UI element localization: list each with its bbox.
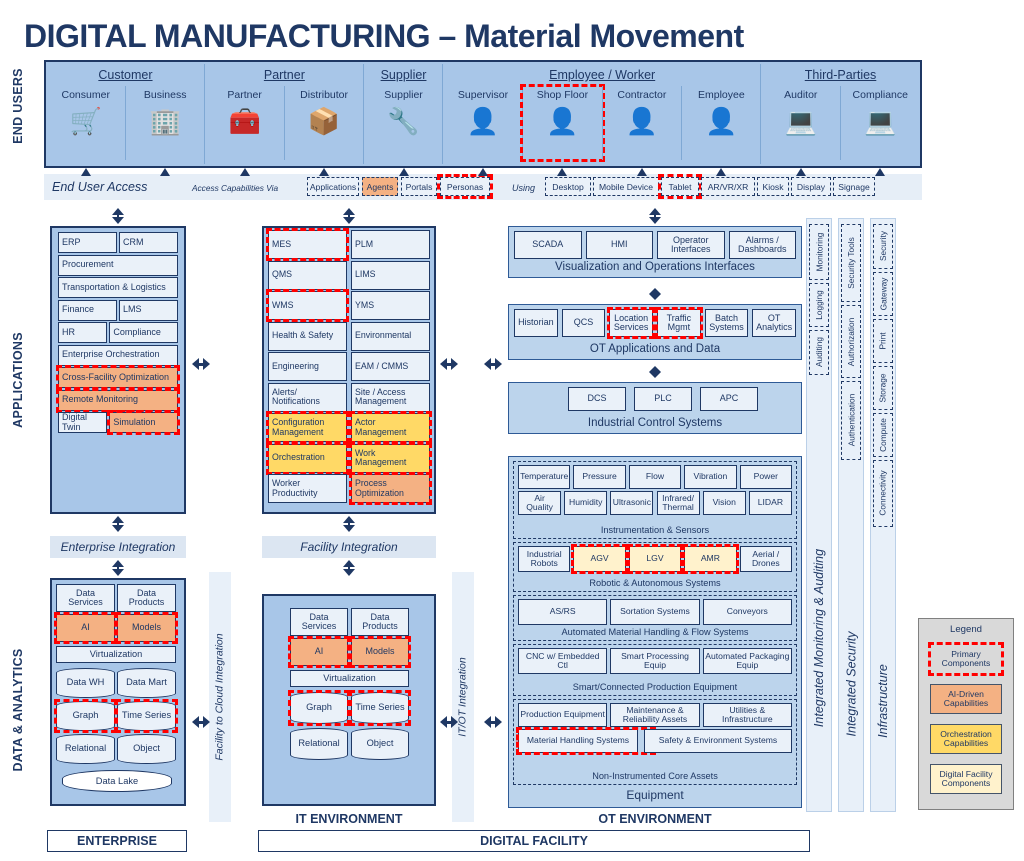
- double-arrow: [649, 366, 661, 380]
- it-app-site-access-management[interactable]: Site / Access Management: [351, 383, 430, 412]
- double-arrow: [649, 288, 661, 302]
- sidebar-tag-gateway[interactable]: Gateway: [873, 272, 893, 316]
- row-label-applications: APPLICATIONS: [8, 320, 28, 440]
- legend-item-dfc: Digital Facility Components: [930, 764, 1002, 794]
- end-user-group-title: Supplier: [364, 68, 443, 82]
- connector-arrow: [319, 168, 329, 176]
- member-divider: [125, 86, 126, 160]
- access-device-tags: DesktopMobile DeviceTabletAR/VR/XRKioskD…: [545, 177, 925, 197]
- sidebar-tag-label: Logging: [814, 290, 824, 320]
- it-app-orchestration[interactable]: Orchestration: [268, 444, 347, 473]
- member-divider: [840, 86, 841, 160]
- it-app-configuration-management[interactable]: Configuration Management: [268, 413, 347, 442]
- end-user-partner[interactable]: Partner: [205, 89, 284, 101]
- person-laptop-icon: 💻: [761, 108, 840, 134]
- connector-arrow: [796, 168, 806, 176]
- ent-data-store-graph[interactable]: Graph: [56, 701, 115, 731]
- access-device-ar-vr-xr[interactable]: AR/VR/XR: [701, 177, 755, 196]
- equipment-item-infrared-thermal[interactable]: Infrared/ Thermal: [657, 491, 700, 515]
- connector-arrow: [875, 168, 885, 176]
- access-capability-tags: ApplicationsAgentsPortalsPersonas: [307, 177, 507, 197]
- enterprise-integration-band: Enterprise Integration: [50, 536, 186, 558]
- end-user-auditor[interactable]: Auditor: [761, 89, 840, 101]
- sidebar-title-wrap: Integrated Security: [775, 676, 928, 692]
- connector-arrow: [343, 516, 355, 532]
- connector-arrow: [160, 168, 170, 176]
- it-data-store-object[interactable]: Object: [351, 728, 409, 760]
- enterprise-app-erp[interactable]: ERP: [58, 232, 117, 253]
- access-capabilities-via-label: Access Capabilities Via: [192, 183, 278, 193]
- it-app-health-safety[interactable]: Health & Safety: [268, 322, 347, 351]
- access-device-display[interactable]: Display: [791, 177, 831, 196]
- sidebar-tag-security[interactable]: Security: [873, 224, 893, 269]
- end-user-group-title: Customer: [46, 68, 205, 82]
- equipment-item-agv[interactable]: AGV: [573, 546, 625, 572]
- connector-arrow: [399, 168, 409, 176]
- horizontal-connector: [484, 716, 502, 728]
- sidebar-tag-label: Authentication: [846, 394, 856, 447]
- sidebar-tag-auditing[interactable]: Auditing: [809, 330, 829, 375]
- ot-group-label: OT Applications and Data: [508, 340, 802, 358]
- sidebar-title: Infrastructure: [876, 664, 890, 738]
- access-capability-personas[interactable]: Personas: [440, 177, 490, 196]
- it-environment-label: IT ENVIRONMENT: [262, 812, 436, 826]
- equipment-item-conveyors[interactable]: Conveyors: [703, 599, 792, 625]
- end-user-group-title: Third-Parties: [761, 68, 920, 82]
- ot-group-label: Visualization and Operations Interfaces: [508, 258, 802, 276]
- person-icon: 👤: [443, 108, 522, 134]
- horizontal-connector: [192, 358, 210, 370]
- sidebar-tag-print[interactable]: Print: [873, 319, 893, 363]
- connector-arrow: [240, 168, 250, 176]
- horizontal-connector: [484, 358, 502, 370]
- connector-arrow: [343, 208, 355, 224]
- access-capability-portals[interactable]: Portals: [401, 177, 437, 196]
- enterprise-app-remote-monitoring[interactable]: Remote Monitoring: [58, 390, 178, 411]
- end-user-supplier[interactable]: Supplier: [364, 89, 443, 101]
- connector-arrow: [649, 208, 661, 224]
- sidebar-tag-connectivity[interactable]: Connectivity: [873, 460, 893, 527]
- equipment-item-air-quality[interactable]: Air Quality: [518, 491, 561, 515]
- it-ot-integration-band: IT/OT Integration: [452, 572, 474, 822]
- it-app-work-management[interactable]: Work Management: [351, 444, 430, 473]
- access-device-signage[interactable]: Signage: [833, 177, 875, 196]
- it-app-process-optimization[interactable]: Process Optimization: [351, 474, 430, 503]
- ent-data-models[interactable]: Models: [117, 614, 176, 642]
- equipment-item-sortation-systems[interactable]: Sortation Systems: [610, 599, 699, 625]
- it-app-actor-management[interactable]: Actor Management: [351, 413, 430, 442]
- sidebar-tag-label: Compute: [878, 418, 888, 452]
- ent-data-store-data-mart[interactable]: Data Mart: [117, 668, 176, 698]
- equipment-item-vibration[interactable]: Vibration: [684, 465, 736, 489]
- sidebar-tag-monitoring[interactable]: Monitoring: [809, 224, 829, 280]
- person-icon: 👤: [523, 108, 602, 134]
- end-user-access-title: End User Access: [52, 180, 147, 194]
- connector-arrow: [112, 208, 124, 224]
- it-data-store-relational[interactable]: Relational: [290, 728, 348, 760]
- sidebar-tag-compute[interactable]: Compute: [873, 413, 893, 457]
- it-applications-grid: MESPLMQMSLIMSWMSYMSHealth & SafetyEnviro…: [268, 230, 430, 510]
- ot-item-scada[interactable]: SCADA: [514, 231, 582, 259]
- equipment-item-smart-processing-equip[interactable]: Smart Processing Equip: [610, 648, 699, 674]
- member-divider: [602, 86, 603, 160]
- sidebar-title-wrap: Integrated Monitoring & Auditing: [697, 630, 941, 646]
- equipment-item-cnc-w-embedded-ctl[interactable]: CNC w/ Embedded Ctl: [518, 648, 607, 674]
- it-app-engineering[interactable]: Engineering: [268, 352, 347, 381]
- sidebar-tag-label: Monitoring: [814, 233, 824, 272]
- enterprise-app-crm[interactable]: CRM: [119, 232, 178, 253]
- ot-item-traffic-mgmt[interactable]: Traffic Mgmt: [657, 309, 701, 337]
- end-user-consumer[interactable]: Consumer: [46, 89, 125, 101]
- connector-arrow: [112, 560, 124, 576]
- enterprise-app-hr[interactable]: HR: [58, 322, 107, 343]
- it-ot-integration-label: IT/OT Integration: [457, 657, 469, 736]
- horizontal-connector: [440, 716, 458, 728]
- connector-arrow: [716, 168, 726, 176]
- ent-data-ai[interactable]: AI: [56, 614, 115, 642]
- enterprise-app-finance[interactable]: Finance: [58, 300, 117, 321]
- legend-item-primary-components: Primary Components: [930, 644, 1002, 674]
- end-user-distributor[interactable]: Distributor: [284, 89, 363, 101]
- equipment-item-automated-packaging-equip[interactable]: Automated Packaging Equip: [703, 648, 792, 674]
- enterprise-applications-list: ERPCRMProcurementTransportation & Logist…: [58, 232, 178, 508]
- access-capability-applications[interactable]: Applications: [307, 177, 359, 196]
- sidebar-tag-label: Auditing: [814, 337, 824, 367]
- sidebar-tag-label: Authorization: [846, 318, 856, 366]
- ent-data-store-relational[interactable]: Relational: [56, 734, 115, 764]
- supplier-person-icon: 🔧: [364, 108, 443, 134]
- connector-arrow: [112, 516, 124, 532]
- ot-item-hmi[interactable]: HMI: [586, 231, 654, 259]
- connector-arrow: [81, 168, 91, 176]
- ot-group-label: Industrial Control Systems: [508, 414, 802, 432]
- it-app-mes[interactable]: MES: [268, 230, 347, 259]
- member-divider: [522, 86, 523, 160]
- end-user-employee[interactable]: Employee: [682, 89, 761, 101]
- shopping-cart-person-icon: 🛒: [46, 108, 125, 134]
- it-data-store-graph[interactable]: Graph: [290, 692, 348, 724]
- facility-integration-band: Facility Integration: [262, 536, 436, 558]
- ot-item-apc[interactable]: APC: [700, 387, 758, 411]
- ot-item-batch-systems[interactable]: Batch Systems: [705, 309, 749, 337]
- equipment-item-lgv[interactable]: LGV: [629, 546, 681, 572]
- end-users-content: CustomerConsumer🛒Business🏢PartnerPartner…: [46, 62, 920, 166]
- access-device-tablet[interactable]: Tablet: [661, 177, 699, 196]
- it-data-virtualization[interactable]: Virtualization: [290, 670, 409, 687]
- ot-environment-label: OT ENVIRONMENT: [500, 812, 810, 826]
- ent-data-store-object[interactable]: Object: [117, 734, 176, 764]
- end-user-group-title: Partner: [205, 68, 364, 82]
- equipment-item-power[interactable]: Power: [740, 465, 792, 489]
- it-app-yms[interactable]: YMS: [351, 291, 430, 320]
- person-laptop-icon: 💻: [841, 108, 920, 134]
- sidebar-tag-label: Security: [878, 231, 888, 261]
- enterprise-app-enterprise-orchestration[interactable]: Enterprise Orchestration: [58, 345, 178, 366]
- sidebar-tag-authorization[interactable]: Authorization: [841, 305, 861, 378]
- enterprise-app-digital-twin[interactable]: Digital Twin: [58, 412, 107, 433]
- sidebar-tag-label: Gateway: [878, 277, 888, 310]
- page-title: DIGITAL MANUFACTURING – Material Movemen…: [24, 18, 964, 55]
- ot-item-ot-analytics[interactable]: OT Analytics: [752, 309, 796, 337]
- access-device-desktop[interactable]: Desktop: [545, 177, 591, 196]
- sidebar-tag-security-tools[interactable]: Security Tools: [841, 224, 861, 302]
- enterprise-app-transportation-logistics[interactable]: Transportation & Logistics: [58, 277, 178, 298]
- it-data-data-products[interactable]: Data Products: [351, 608, 409, 636]
- member-divider: [284, 86, 285, 160]
- enterprise-app-lms[interactable]: LMS: [119, 300, 178, 321]
- ot-item-dcs[interactable]: DCS: [568, 387, 626, 411]
- equipment-item-amr[interactable]: AMR: [684, 546, 736, 572]
- equipment-subgroup-label: Non-Instrumented Core Assets: [513, 769, 797, 783]
- enterprise-bottom-bar: ENTERPRISE: [47, 830, 187, 852]
- ot-item-location-services[interactable]: Location Services: [609, 309, 653, 337]
- equipment-subgroup-label: Smart/Connected Production Equipment: [513, 680, 797, 694]
- end-user-supervisor[interactable]: Supervisor: [443, 89, 522, 101]
- sidebar-tag-label: Print: [878, 332, 888, 349]
- it-app-alerts-notifications[interactable]: Alerts/ Notifications: [268, 383, 347, 412]
- it-data-models[interactable]: Models: [351, 638, 409, 666]
- ot-item-historian[interactable]: Historian: [514, 309, 558, 337]
- access-device-mobile-device[interactable]: Mobile Device: [593, 177, 659, 196]
- enterprise-data-content: Data ServicesData ProductsAIModelsVirtua…: [56, 584, 180, 802]
- ent-data-virtualization[interactable]: Virtualization: [56, 646, 176, 663]
- ot-item-alarms-dashboards[interactable]: Alarms / Dashboards: [729, 231, 797, 259]
- ot-item-qcs[interactable]: QCS: [562, 309, 606, 337]
- end-user-shop-floor[interactable]: Shop Floor: [523, 89, 602, 101]
- sidebar-tag-logging[interactable]: Logging: [809, 283, 829, 327]
- building-icon: 🏢: [125, 108, 204, 134]
- ot-stack: SCADAHMIOperator InterfacesAlarms / Dash…: [508, 226, 802, 446]
- worker-bench-icon: 🧰: [205, 108, 284, 134]
- equipment-item-material-handling-systems[interactable]: Material Handling Systems: [518, 729, 638, 753]
- person-icon: 👤: [682, 108, 761, 134]
- sidebar-tag-label: Connectivity: [878, 471, 888, 516]
- enterprise-app-simulation[interactable]: Simulation: [109, 412, 178, 433]
- connector-arrow: [637, 168, 647, 176]
- it-app-wms[interactable]: WMS: [268, 291, 347, 320]
- connector-arrow: [478, 168, 488, 176]
- ent-data-lake[interactable]: Data Lake: [62, 770, 172, 792]
- equipment-main-label: Equipment: [508, 786, 802, 804]
- ent-data-data-services[interactable]: Data Services: [56, 584, 115, 612]
- end-user-compliance[interactable]: Compliance: [841, 89, 920, 101]
- sidebar-tag-label: Security Tools: [846, 237, 856, 289]
- equipment-item-industrial-robots[interactable]: Industrial Robots: [518, 546, 570, 572]
- equipment-item-maintenance-reliability-assets[interactable]: Maintenance & Reliability Assets: [610, 703, 699, 727]
- facility-to-cloud-integration-band: Facility to Cloud Integration: [209, 572, 231, 822]
- equipment-item-vision[interactable]: Vision: [703, 491, 746, 515]
- member-divider: [681, 86, 682, 160]
- ent-data-store-time-series[interactable]: Time Series: [117, 701, 176, 731]
- ent-data-data-products[interactable]: Data Products: [117, 584, 176, 612]
- legend-item-ai: AI-Driven Capabilities: [930, 684, 1002, 714]
- equipment-item-safety-environment-systems[interactable]: Safety & Environment Systems: [644, 729, 792, 753]
- it-data-store-time-series[interactable]: Time Series: [351, 692, 409, 724]
- legend-title: Legend: [918, 624, 1014, 635]
- it-app-plm[interactable]: PLM: [351, 230, 430, 259]
- cross-cutting-sidebars: MonitoringLoggingAuditingIntegrated Moni…: [806, 218, 916, 812]
- equipment-subgroup-label: Robotic & Autonomous Systems: [513, 576, 797, 590]
- connector-arrow: [557, 168, 567, 176]
- equipment-subgroup-label: Instrumentation & Sensors: [513, 523, 797, 537]
- end-user-group-title: Employee / Worker: [443, 68, 761, 82]
- it-app-worker-productivity[interactable]: Worker Productivity: [268, 474, 347, 503]
- equipment-item-pressure[interactable]: Pressure: [573, 465, 625, 489]
- equipment-item-ultrasonic[interactable]: Ultrasonic: [610, 491, 653, 515]
- equipment-item-utilities-infrastructure[interactable]: Utilities & Infrastructure: [703, 703, 792, 727]
- person-icon: 👤: [602, 108, 681, 134]
- sidebar-tag-authentication[interactable]: Authentication: [841, 381, 861, 459]
- it-data-data-services[interactable]: Data Services: [290, 608, 348, 636]
- it-app-environmental[interactable]: Environmental: [351, 322, 430, 351]
- legend-item-orch: Orchestration Capabilities: [930, 724, 1002, 754]
- row-label-data-analytics: DATA & ANALYTICS: [8, 640, 28, 780]
- equipment-item-as-rs[interactable]: AS/RS: [518, 599, 607, 625]
- legend-items: Primary ComponentsAI-Driven Capabilities…: [926, 644, 1006, 804]
- it-app-lims[interactable]: LIMS: [351, 261, 430, 290]
- equipment-item-temperature[interactable]: Temperature: [518, 465, 570, 489]
- row-label-end-users: END USERS: [8, 66, 28, 146]
- connector-arrow: [343, 560, 355, 576]
- it-app-eam-cmms[interactable]: EAM / CMMS: [351, 352, 430, 381]
- enterprise-app-procurement[interactable]: Procurement: [58, 255, 178, 276]
- ot-item-plc[interactable]: PLC: [634, 387, 692, 411]
- enterprise-app-cross-facility-optimization[interactable]: Cross-Facility Optimization: [58, 367, 178, 388]
- delivery-truck-icon: 📦: [284, 108, 363, 134]
- end-user-contractor[interactable]: Contractor: [602, 89, 681, 101]
- ent-data-store-data-wh[interactable]: Data WH: [56, 668, 115, 698]
- sidebar-tag-label: Storage: [878, 373, 888, 402]
- it-data-ai[interactable]: AI: [290, 638, 348, 666]
- it-app-qms[interactable]: QMS: [268, 261, 347, 290]
- using-label: Using: [512, 183, 535, 193]
- equipment-item-humidity[interactable]: Humidity: [564, 491, 607, 515]
- sidebar-tag-storage[interactable]: Storage: [873, 366, 893, 410]
- equipment-item-flow[interactable]: Flow: [629, 465, 681, 489]
- facility-to-cloud-integration-label: Facility to Cloud Integration: [214, 633, 226, 760]
- end-user-business[interactable]: Business: [125, 89, 204, 101]
- equipment-item-lidar[interactable]: LIDAR: [749, 491, 792, 515]
- access-capability-agents[interactable]: Agents: [362, 177, 398, 196]
- ot-item-operator-interfaces[interactable]: Operator Interfaces: [657, 231, 725, 259]
- it-data-content: Data ServicesData ProductsAIModelsVirtua…: [290, 608, 410, 798]
- sidebar-title: Integrated Security: [844, 631, 858, 736]
- horizontal-connector: [192, 716, 210, 728]
- digital-facility-bottom-bar: DIGITAL FACILITY: [258, 830, 810, 852]
- access-device-kiosk[interactable]: Kiosk: [757, 177, 789, 196]
- equipment-item-production-equipment[interactable]: Production Equipment: [518, 703, 607, 727]
- equipment-item-aerial-drones[interactable]: Aerial / Drones: [740, 546, 792, 572]
- enterprise-app-compliance[interactable]: Compliance: [109, 322, 178, 343]
- horizontal-connector: [440, 358, 458, 370]
